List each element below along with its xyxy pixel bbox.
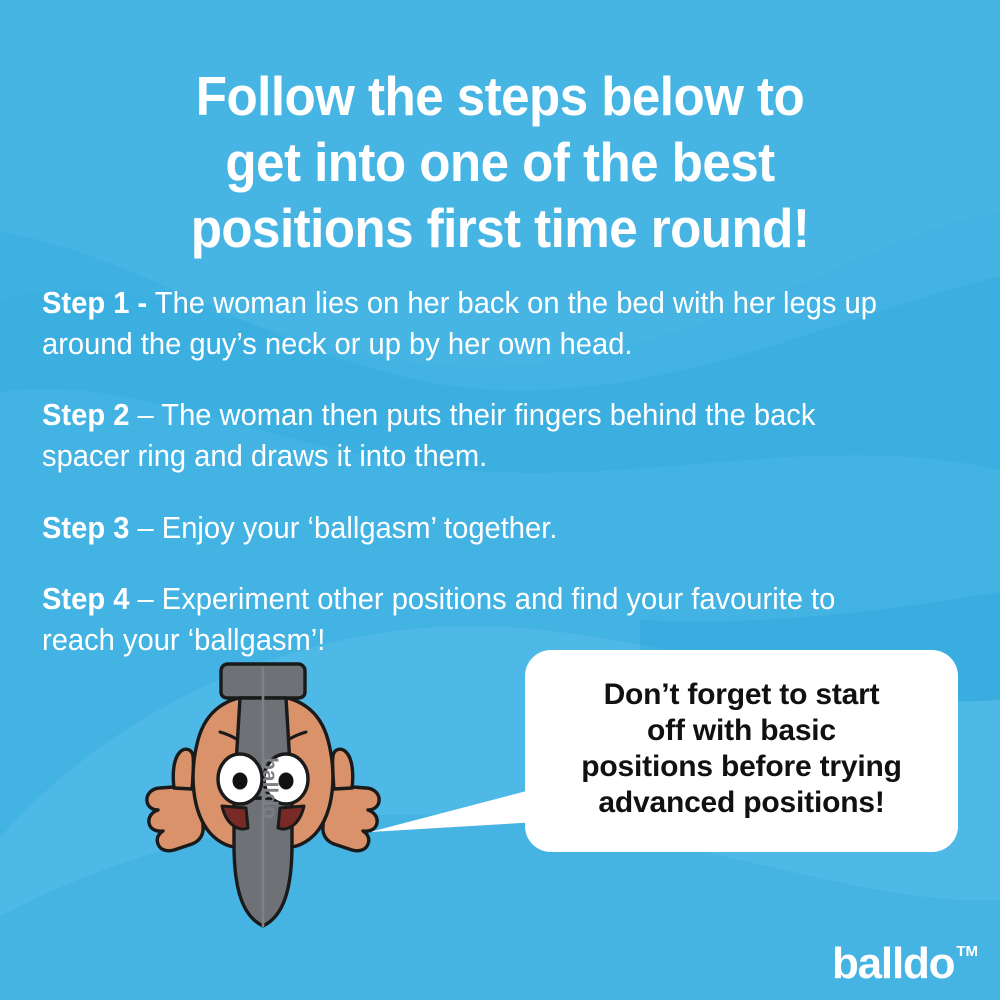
step-body: – The woman then puts their fingers behi… — [42, 398, 815, 473]
step-body: The woman lies on her back on the bed wi… — [42, 286, 877, 361]
step-label: Step 3 — [42, 511, 129, 545]
page-title: Follow the steps below to get into one o… — [35, 63, 965, 261]
speech-bubble-text: Don’t forget to start off with basic pos… — [581, 677, 901, 821]
poster: Follow the steps below to get into one o… — [0, 0, 1000, 1000]
list-item: Step 2 – The woman then puts their finge… — [42, 395, 892, 477]
trademark-symbol: TM — [956, 944, 978, 959]
list-item: Step 3 – Enjoy your ‘ballgasm’ together. — [42, 508, 892, 549]
brand-logo: balldo TM — [832, 942, 978, 986]
step-label: Step 4 — [42, 582, 129, 616]
step-body: – Enjoy your ‘ballgasm’ together. — [129, 511, 557, 545]
brand-name: balldo — [832, 942, 954, 986]
steps-list: Step 1 - The woman lies on her back on t… — [42, 252, 932, 661]
speech-bubble: Don’t forget to start off with basic pos… — [525, 650, 958, 852]
step-label: Step 2 — [42, 398, 129, 432]
balldo-mascot-icon: balldo — [88, 648, 438, 943]
step-label: Step 1 - — [42, 286, 147, 320]
step-body: – Experiment other positions and find yo… — [42, 582, 835, 657]
device-wordmark: balldo — [258, 757, 281, 819]
list-item: Step 1 - The woman lies on her back on t… — [42, 283, 892, 365]
